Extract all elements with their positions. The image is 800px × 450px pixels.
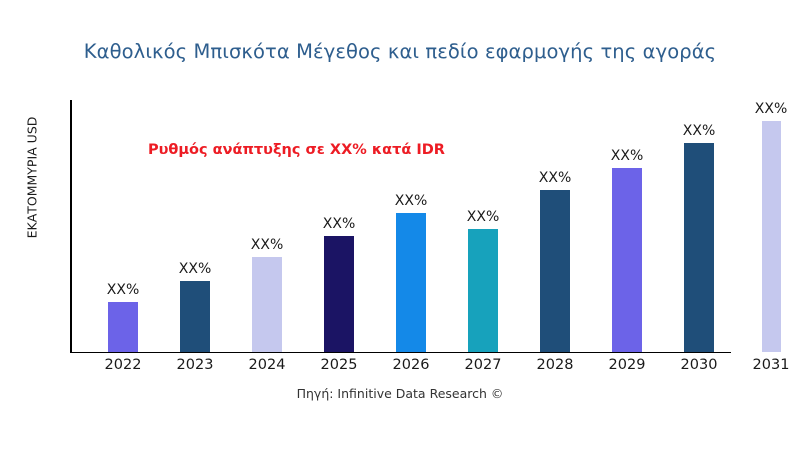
bar-group: XX% — [684, 100, 714, 352]
bar-2026[interactable] — [396, 213, 426, 352]
x-tick-2030: 2030 — [669, 357, 729, 373]
bar-2024[interactable] — [252, 257, 282, 352]
bar-2028[interactable] — [540, 190, 570, 352]
y-axis-label: ΕΚΑΤΟΜΜΥΡΙΑ USD — [25, 68, 40, 288]
bar-value-label-2024: XX% — [251, 237, 283, 253]
plot-area: XX%XX%XX%XX%XX%XX%XX%XX%XX%XX% — [70, 100, 800, 352]
bar-value-label-2030: XX% — [683, 123, 715, 139]
bar-2027[interactable] — [468, 229, 498, 352]
bar-2031[interactable] — [762, 121, 781, 352]
x-tick-2026: 2026 — [381, 357, 441, 373]
bar-value-label-2029: XX% — [611, 148, 643, 164]
bar-group: XX% — [762, 100, 781, 352]
bar-2023[interactable] — [180, 281, 210, 352]
bar-value-label-2031: XX% — [755, 101, 787, 117]
x-tick-2029: 2029 — [597, 357, 657, 373]
bar-group: XX% — [468, 100, 498, 352]
x-tick-2031: 2031 — [741, 357, 800, 373]
bar-group: XX% — [612, 100, 642, 352]
bar-2030[interactable] — [684, 143, 714, 352]
x-tick-2024: 2024 — [237, 357, 297, 373]
bar-2025[interactable] — [324, 236, 354, 352]
x-tick-2027: 2027 — [453, 357, 513, 373]
bar-value-label-2022: XX% — [107, 282, 139, 298]
bar-2029[interactable] — [612, 168, 642, 352]
bar-group: XX% — [180, 100, 210, 352]
bar-value-label-2025: XX% — [323, 216, 355, 232]
bar-group: XX% — [252, 100, 282, 352]
bar-value-label-2026: XX% — [395, 193, 427, 209]
bar-value-label-2027: XX% — [467, 209, 499, 225]
chart-container: Καθολικός Μπισκότα Μέγεθος και πεδίο εφα… — [0, 0, 800, 450]
x-axis-tick-labels: 2022202320242025202620272028202920302031 — [70, 357, 800, 381]
bar-group: XX% — [396, 100, 426, 352]
chart-title: Καθολικός Μπισκότα Μέγεθος και πεδίο εφα… — [0, 40, 800, 63]
bar-value-label-2028: XX% — [539, 170, 571, 186]
x-tick-2023: 2023 — [165, 357, 225, 373]
bar-group: XX% — [324, 100, 354, 352]
bar-value-label-2023: XX% — [179, 261, 211, 277]
x-tick-2028: 2028 — [525, 357, 585, 373]
bar-2022[interactable] — [108, 302, 138, 352]
source-caption: Πηγή: Infinitive Data Research © — [0, 386, 800, 401]
bar-group: XX% — [540, 100, 570, 352]
x-tick-2025: 2025 — [309, 357, 369, 373]
bar-group: XX% — [108, 100, 138, 352]
x-tick-2022: 2022 — [93, 357, 153, 373]
